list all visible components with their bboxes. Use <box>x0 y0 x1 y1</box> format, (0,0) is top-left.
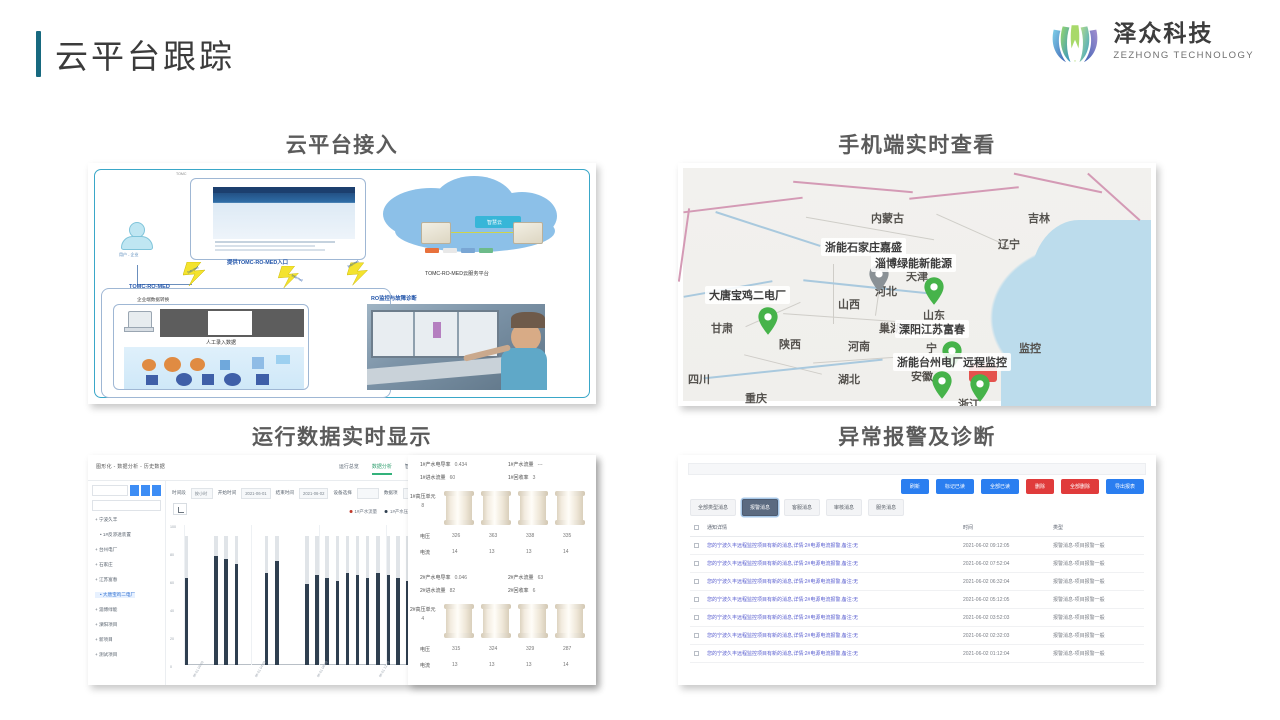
company-logo: 泽众科技 ZEZHONG TECHNOLOGY <box>1047 14 1254 70</box>
alarm-message[interactable]: 您的宁波久丰远程监控项目有新的消息,详情:2#电源电流报警,备注:无 <box>703 573 959 591</box>
device-row-value: 13 <box>489 662 495 668</box>
chart-filter-label: 设备选择 <box>333 490 351 496</box>
device-row-label: 电流 <box>420 549 430 556</box>
device-unit-name: 2#高压单元 <box>410 606 436 613</box>
chart-x-tick: 06-01 12:00 <box>378 660 391 678</box>
chart-bar <box>336 581 340 665</box>
arch-label-platform: TOMC-RO-MED云服务平台 <box>425 270 489 277</box>
map-province-label: 吉林 <box>1028 210 1050 226</box>
device-metric-label: 2#产水流量 <box>508 574 534 581</box>
alarm-tab[interactable]: 审核消息 <box>826 499 862 516</box>
alarm-type: 报警消息-项目报警一般 <box>1049 537 1144 555</box>
device-row-value: 315 <box>452 646 460 652</box>
slide-title-text: 云平台跟踪 <box>55 30 235 78</box>
alarm-tabs[interactable]: 全部类型消息报警消息客服消息审核消息服务消息 <box>690 499 904 516</box>
device-metric-value: 63 <box>538 575 544 581</box>
device-spool-icon <box>483 491 509 525</box>
dashboard-brand: 图形化 - 数据分析 - 历史数据 <box>96 463 165 470</box>
chart-y-tick: 60 <box>170 581 174 585</box>
alarm-tab[interactable]: 报警消息 <box>742 499 778 516</box>
alarm-action-button[interactable]: 全部删除 <box>1061 479 1099 494</box>
row-checkbox-cell[interactable] <box>690 573 703 591</box>
row-checkbox-cell[interactable] <box>690 591 703 609</box>
chart-y-tick: 80 <box>170 553 174 557</box>
project-tree-item[interactable]: + 溧阳项目 <box>95 622 117 628</box>
map-site-label[interactable]: 大唐宝鸡二电厂 <box>705 286 790 304</box>
row-checkbox[interactable] <box>694 633 699 638</box>
table-row[interactable]: 您的宁波久丰远程监控项目有新的消息,详情:2#电源电流报警,备注:无2021-0… <box>690 537 1144 555</box>
chart-y-tick: 0 <box>170 665 172 669</box>
chart-bar <box>224 559 228 665</box>
chart-bar <box>214 556 218 665</box>
device-metric-label: 2#回收率 <box>508 587 529 594</box>
chart-bar <box>356 575 360 665</box>
border-line-1 <box>683 197 802 213</box>
device-row-label: 电流 <box>420 662 430 669</box>
arch-label-data-convert: 企业端数据转换 <box>135 297 171 303</box>
alarm-action-button[interactable]: 全部已读 <box>981 479 1019 494</box>
panel-title-realtime-data: 运行数据实时显示 <box>88 421 596 451</box>
alarm-table: 通知详情 时间 类型 您的宁波久丰远程监控项目有新的消息,详情:2#电源电流报警… <box>690 519 1144 663</box>
row-checkbox-cell[interactable] <box>690 645 703 663</box>
device-metric: 1#回收率3 <box>508 474 535 481</box>
alarm-tab[interactable]: 服务消息 <box>868 499 904 516</box>
device-row-value: 13 <box>526 662 532 668</box>
table-row[interactable]: 您的宁波久丰远程监控项目有新的消息,详情:2#电源电流报警,备注:无2021-0… <box>690 609 1144 627</box>
chart-bar <box>275 561 279 665</box>
device-row-value: 329 <box>526 646 534 652</box>
alarm-action-button[interactable]: 删除 <box>1026 479 1054 494</box>
search-input[interactable] <box>92 485 128 496</box>
project-tree-item[interactable]: + 宁波久丰 <box>95 517 117 523</box>
device-metric-label: 2#进水流量 <box>420 587 446 594</box>
map-province-label: 四川 <box>688 371 710 387</box>
browser-window-box <box>190 178 366 260</box>
project-tree-item[interactable]: + 新项目 <box>95 637 113 643</box>
legend-marker-icon <box>385 510 388 513</box>
device-metric: 2#产水流量63 <box>508 574 543 581</box>
logo-company-name-en: ZEZHONG TECHNOLOGY <box>1113 51 1254 61</box>
enterprise-inner-box: 人工录入数据 <box>113 304 309 390</box>
chart-filter-input[interactable]: 2021-06-02 <box>299 488 328 499</box>
map-province-label: 山西 <box>838 296 860 312</box>
device-row-value: 287 <box>563 646 571 652</box>
project-tree-item[interactable]: + 石家庄 <box>95 562 113 568</box>
map-province-label: 陕西 <box>779 336 801 352</box>
device-metric: 2#产水电导率0.046 <box>420 574 467 581</box>
chart-filter-label: 结束时间 <box>276 490 294 496</box>
alarm-time: 2021-06-02 06:32:04 <box>959 573 1049 591</box>
map-province-label: 内蒙古 <box>871 210 904 226</box>
map-location-pin-icon[interactable] <box>969 373 991 403</box>
device-values-screenshot: 1#产水电导率0.4341#产水流量---1#进水流量601#回收率31#高压单… <box>408 455 596 685</box>
dashboard-sidebar: + 宁波久丰• 1#反渗透装置+ 台州电厂+ 石家庄+ 江苏富春• 大唐宝鸡二电… <box>88 481 166 685</box>
row-checkbox[interactable] <box>694 615 699 620</box>
alarm-time: 2021-06-02 01:12:04 <box>959 645 1049 663</box>
panel-title-alarm-diagnosis: 异常报警及诊断 <box>678 421 1156 451</box>
device-metric-label: 1#进水流量 <box>420 474 446 481</box>
slide-root: 云平台跟踪 <box>0 0 1280 720</box>
page-title: 云平台跟踪 <box>36 30 235 78</box>
col-detail: 通知详情 <box>703 519 959 537</box>
device-metric: 1#进水流量60 <box>420 474 455 481</box>
map-canvas[interactable]: 内蒙古吉林辽宁河北天津山西山东甘肃陕西河南巢湖宁湖北四川重庆浙江安徽监控 浙能石… <box>683 168 1151 401</box>
chart-gridline <box>319 525 320 665</box>
legend-marker-icon <box>350 510 353 513</box>
arch-label-tomc: TOMC <box>176 172 187 176</box>
map-province-label: 辽宁 <box>998 236 1020 252</box>
device-spool-icon <box>557 604 583 638</box>
device-metric-value: 0.434 <box>455 462 468 468</box>
map-province-label: 河南 <box>848 338 870 354</box>
map-province-label: 甘肃 <box>711 320 733 336</box>
arch-label-user: 用户 - 企业 <box>119 252 139 258</box>
row-checkbox-cell[interactable] <box>690 627 703 645</box>
row-checkbox[interactable] <box>694 561 699 566</box>
arch-label-tomc-med: TOMC-RO-MED <box>129 284 170 290</box>
river-1 <box>715 211 820 246</box>
map-province-label: 湖北 <box>838 371 860 387</box>
legend-label: 1#产水流量 <box>355 509 377 514</box>
arch-label-entry: 提供TOMC-RO-MED入口 <box>227 258 288 266</box>
device-row-label: 电压 <box>420 533 430 540</box>
device-spool-icon <box>446 604 472 638</box>
device-spool-icon <box>446 491 472 525</box>
map-screenshot: 内蒙古吉林辽宁河北天津山西山东甘肃陕西河南巢湖宁湖北四川重庆浙江安徽监控 浙能石… <box>678 163 1156 406</box>
border-line-5 <box>1087 173 1140 221</box>
chart-filter-label: 数据项 <box>384 490 398 496</box>
device-metric: 2#回收率6 <box>508 587 535 594</box>
select-all-checkbox[interactable] <box>694 525 699 530</box>
device-row-value: 335 <box>563 533 571 539</box>
alarm-time: 2021-06-02 05:12:05 <box>959 591 1049 609</box>
row-checkbox[interactable] <box>694 651 699 656</box>
device-metric: 1#产水流量--- <box>508 461 543 468</box>
logo-company-name: 泽众科技 <box>1113 23 1254 46</box>
cloud-architecture-screenshot: 用户 - 企业 TOMC 提供TOMC-RO-MED入口 智慧云 <box>88 163 596 404</box>
device-metric: 1#产水电导率0.434 <box>420 461 467 468</box>
arch-label-ro-monitor: RO监控与故障诊断 <box>371 294 417 302</box>
chart-gridline <box>184 525 185 665</box>
device-row-value: 324 <box>489 646 497 652</box>
alarm-type: 报警消息-项目报警一般 <box>1049 591 1144 609</box>
device-spool-icon <box>483 604 509 638</box>
alarm-message[interactable]: 您的宁波久丰远程监控项目有新的消息,详情:2#电源电流报警,备注:无 <box>703 537 959 555</box>
device-row-value: 13 <box>452 662 458 668</box>
table-row[interactable]: 您的宁波久丰远程监控项目有新的消息,详情:2#电源电流报警,备注:无2021-0… <box>690 591 1144 609</box>
chart-legend-item[interactable]: 1#产水流量 <box>350 509 377 515</box>
table-row[interactable]: 您的宁波久丰远程监控项目有新的消息,详情:2#电源电流报警,备注:无2021-0… <box>690 555 1144 573</box>
project-tree-item[interactable]: + 台州电厂 <box>95 547 117 553</box>
row-checkbox-cell[interactable] <box>690 537 703 555</box>
table-row[interactable]: 您的宁波久丰远程监控项目有新的消息,详情:2#电源电流报警,备注:无2021-0… <box>690 645 1144 663</box>
chart-bar <box>325 578 329 665</box>
row-checkbox[interactable] <box>694 543 699 548</box>
row-checkbox-cell[interactable] <box>690 555 703 573</box>
server-icon-right <box>513 222 543 244</box>
project-tree-item[interactable]: + 测试项目 <box>95 652 117 658</box>
device-metric-value: 82 <box>450 588 456 594</box>
alarm-type: 报警消息-项目报警一般 <box>1049 609 1144 627</box>
device-metric-label: 2#产水电导率 <box>420 574 451 581</box>
arch-label-manual-input: 人工录入数据 <box>206 339 236 346</box>
panel-title-cloud-access: 云平台接入 <box>88 129 596 159</box>
project-tree-item[interactable]: + 淄博绿能 <box>95 607 117 613</box>
device-unit-label: 2#高压单元4 <box>410 606 436 622</box>
dashboard-nav-item[interactable]: 数据分析 <box>372 463 392 475</box>
alarm-message[interactable]: 您的宁波久丰远程监控项目有新的消息,详情:2#电源电流报警,备注:无 <box>703 591 959 609</box>
table-row[interactable]: 您的宁波久丰远程监控项目有新的消息,详情:2#电源电流报警,备注:无2021-0… <box>690 573 1144 591</box>
alarm-type: 报警消息-项目报警一般 <box>1049 645 1144 663</box>
col-time: 时间 <box>959 519 1049 537</box>
device-row-label: 电压 <box>420 646 430 653</box>
device-row-value: 363 <box>489 533 497 539</box>
chart-expand-button[interactable] <box>173 503 187 515</box>
process-flow-diagram <box>124 347 304 389</box>
chart-filter-input[interactable]: 2021-06-01 <box>241 488 270 499</box>
filter-icon[interactable] <box>141 485 150 496</box>
device-spool-icon <box>520 491 546 525</box>
sea-bay <box>1081 254 1127 292</box>
alarm-table-screenshot: 刷新标记已读全部已读删除全部删除导出报表 全部类型消息报警消息客服消息审核消息服… <box>678 455 1156 685</box>
chart-bar <box>396 578 400 665</box>
alarm-time: 2021-06-02 07:52:04 <box>959 555 1049 573</box>
select-all-header[interactable] <box>690 519 703 537</box>
row-checkbox[interactable] <box>694 579 699 584</box>
project-tree-item[interactable]: • 1#反渗透装置 <box>95 532 131 538</box>
alarm-time: 2021-06-02 09:12:05 <box>959 537 1049 555</box>
server-icon-left <box>421 222 451 244</box>
map-location-pin-icon[interactable] <box>923 276 945 306</box>
dashboard-nav-item[interactable]: 运行总览 <box>339 463 359 475</box>
refresh-icon[interactable] <box>152 485 161 496</box>
device-metric: 2#进水流量82 <box>420 587 455 594</box>
alarm-tab[interactable]: 全部类型消息 <box>690 499 736 516</box>
alarm-header-band <box>688 463 1146 475</box>
chart-bar <box>305 584 309 665</box>
alarm-message[interactable]: 您的宁波久丰远程监控项目有新的消息,详情:2#电源电流报警,备注:无 <box>703 627 959 645</box>
scada-window <box>160 309 304 337</box>
website-screenshot <box>213 187 355 239</box>
alarm-header-row: 通知详情 时间 类型 <box>690 519 1144 537</box>
device-metric-label: 1#产水电导率 <box>420 461 451 468</box>
border-line-2 <box>793 181 913 193</box>
chart-filter-input[interactable] <box>357 488 379 499</box>
alarm-message[interactable]: 您的宁波久丰远程监控项目有新的消息,详情:2#电源电流报警,备注:无 <box>703 609 959 627</box>
alarm-time: 2021-06-02 03:52:03 <box>959 609 1049 627</box>
chart-bar <box>346 573 350 665</box>
device-row-value: 326 <box>452 533 460 539</box>
lotus-logo-icon <box>1047 14 1103 70</box>
device-metric-label: 1#回收率 <box>508 474 529 481</box>
alarm-tab[interactable]: 客服消息 <box>784 499 820 516</box>
laptop-icon <box>124 327 154 332</box>
device-unit-name: 1#高压单元 <box>410 493 436 500</box>
col-type: 类型 <box>1049 519 1144 537</box>
alarm-type: 报警消息-项目报警一般 <box>1049 573 1144 591</box>
alarm-action-button[interactable]: 刷新 <box>901 479 929 494</box>
map-location-pin-icon[interactable] <box>931 370 953 400</box>
device-row-value: 14 <box>563 549 569 555</box>
alarm-message[interactable]: 您的宁波久丰远程监控项目有新的消息,详情:2#电源电流报警,备注:无 <box>703 555 959 573</box>
control-room-photo <box>367 304 545 390</box>
row-checkbox-cell[interactable] <box>690 609 703 627</box>
alarm-action-button[interactable]: 标记已读 <box>936 479 974 494</box>
device-row-value: 338 <box>526 533 534 539</box>
device-unit-label: 1#高压单元8 <box>410 493 436 509</box>
device-metric-value: 6 <box>533 588 536 594</box>
map-site-label[interactable]: 淄博绿能新能源 <box>871 254 956 272</box>
project-select[interactable] <box>92 500 161 511</box>
device-spool-icon <box>520 604 546 638</box>
alarm-type: 报警消息-项目报警一般 <box>1049 627 1144 645</box>
chart-gridline <box>251 525 252 665</box>
sidebar-search[interactable] <box>92 485 161 496</box>
map-site-label[interactable]: 浙能台州电厂远程监控 <box>893 353 1011 371</box>
map-province-label: 监控 <box>1019 340 1041 356</box>
chart-filter-label: 开始时间 <box>218 490 236 496</box>
device-metric-label: 1#产水流量 <box>508 461 534 468</box>
chart-bar <box>376 573 380 665</box>
chart-gridline <box>386 525 387 665</box>
alarm-action-button[interactable]: 导出报表 <box>1106 479 1144 494</box>
title-accent-bar <box>36 31 41 77</box>
arch-connector <box>137 265 138 285</box>
chart-y-tick: 20 <box>170 637 174 641</box>
chart-filter-input[interactable]: 按小时 <box>191 488 213 499</box>
project-tree-item[interactable]: • 大唐宝鸡二电厂 <box>95 592 135 598</box>
chart-filter-label: 时间段 <box>172 490 186 496</box>
device-metric-value: 3 <box>533 475 536 481</box>
device-row-value: 14 <box>452 549 458 555</box>
panel-title-mobile-view: 手机端实时查看 <box>678 129 1156 159</box>
website-navbar <box>213 187 355 193</box>
device-row-value: 14 <box>563 662 569 668</box>
user-body-icon <box>121 236 153 250</box>
chart-y-tick: 40 <box>170 609 174 613</box>
border-line-6 <box>678 208 690 282</box>
project-tree-item[interactable]: + 江苏富春 <box>95 577 117 583</box>
alarm-action-buttons[interactable]: 刷新标记已读全部已读删除全部删除导出报表 <box>901 479 1144 494</box>
map-province-label: 重庆 <box>745 390 767 406</box>
chart-bar <box>235 564 239 665</box>
map-site-label[interactable]: 溧阳江苏富春 <box>895 320 969 338</box>
border-line-3 <box>909 186 1019 199</box>
sea-east <box>1001 318 1151 406</box>
search-icon[interactable] <box>130 485 139 496</box>
device-row-value: 13 <box>526 549 532 555</box>
alarm-message[interactable]: 您的宁波久丰远程监控项目有新的消息,详情:2#电源电流报警,备注:无 <box>703 645 959 663</box>
map-location-pin-icon[interactable] <box>757 306 779 336</box>
cloud-badge-text: 智慧云 <box>487 219 502 226</box>
row-checkbox[interactable] <box>694 597 699 602</box>
chart-legend: 1#产水流量1#产水压力 <box>350 509 413 515</box>
chart-bar <box>366 578 370 665</box>
device-spool-icon <box>557 491 583 525</box>
alarm-table-body: 您的宁波久丰远程监控项目有新的消息,详情:2#电源电流报警,备注:无2021-0… <box>690 537 1144 663</box>
alarm-time: 2021-06-02 02:32:03 <box>959 627 1049 645</box>
alarm-table-head: 通知详情 时间 类型 <box>690 519 1144 537</box>
chart-x-tick: 06-01 04:00 <box>254 660 267 678</box>
device-row-value: 13 <box>489 549 495 555</box>
device-unit-value: 4 <box>421 616 424 622</box>
table-row[interactable]: 您的宁波久丰远程监控项目有新的消息,详情:2#电源电流报警,备注:无2021-0… <box>690 627 1144 645</box>
chart-y-tick: 100 <box>170 525 176 529</box>
chart-x-tick: 06-01 00:00 <box>192 660 205 678</box>
device-metric-value: 60 <box>450 475 456 481</box>
device-unit-value: 8 <box>421 503 424 509</box>
device-metric-value: 0.046 <box>455 575 468 581</box>
alarm-type: 报警消息-项目报警一般 <box>1049 555 1144 573</box>
device-metric-value: --- <box>538 462 543 468</box>
chart-bar <box>265 573 269 665</box>
